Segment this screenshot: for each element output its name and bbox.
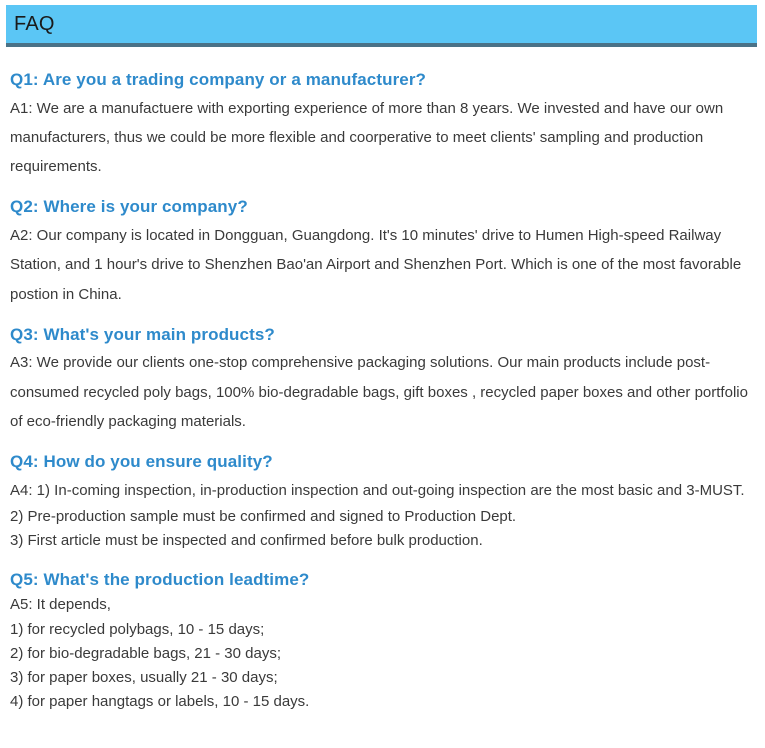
- faq-question-q2: Q2: Where is your company?: [10, 195, 755, 220]
- faq-answer-line: 3) for paper boxes, usually 21 - 30 days…: [10, 666, 755, 690]
- faq-section-q4: Q4: How do you ensure quality? A4: 1) In…: [10, 450, 755, 553]
- faq-answer-line: A4: 1) In-coming inspection, in-producti…: [10, 476, 755, 505]
- faq-question-q1: Q1: Are you a trading company or a manuf…: [10, 68, 755, 93]
- faq-answer-q4: A4: 1) In-coming inspection, in-producti…: [10, 476, 755, 554]
- faq-section-q5: Q5: What's the production leadtime? A5: …: [10, 568, 755, 715]
- faq-section-q2: Q2: Where is your company? A2: Our compa…: [10, 195, 755, 308]
- faq-answer-line: A5: It depends,: [10, 593, 755, 617]
- faq-page: FAQ Q1: Are you a trading company or a m…: [0, 0, 765, 748]
- faq-question-q4: Q4: How do you ensure quality?: [10, 450, 755, 475]
- faq-answer-line: 2) for bio-degradable bags, 21 - 30 days…: [10, 642, 755, 666]
- faq-answer-q3: A3: We provide our clients one-stop comp…: [10, 348, 755, 436]
- faq-answer-line: 3) First article must be inspected and c…: [10, 529, 755, 553]
- faq-banner: FAQ: [6, 5, 757, 47]
- faq-section-q3: Q3: What's your main products? A3: We pr…: [10, 323, 755, 436]
- faq-answer-line: 1) for recycled polybags, 10 - 15 days;: [10, 618, 755, 642]
- faq-answer-q2: A2: Our company is located in Dongguan, …: [10, 221, 755, 309]
- faq-banner-title: FAQ: [6, 14, 55, 34]
- faq-section-q1: Q1: Are you a trading company or a manuf…: [10, 68, 755, 181]
- faq-question-q3: Q3: What's your main products?: [10, 323, 755, 348]
- faq-answer-q5: A5: It depends, 1) for recycled polybags…: [10, 593, 755, 714]
- faq-question-q5: Q5: What's the production leadtime?: [10, 568, 755, 593]
- faq-content: Q1: Are you a trading company or a manuf…: [10, 68, 755, 715]
- faq-answer-q1: A1: We are a manufactuere with exporting…: [10, 94, 755, 182]
- faq-answer-line: 4) for paper hangtags or labels, 10 - 15…: [10, 690, 755, 714]
- faq-answer-line: 2) Pre-production sample must be confirm…: [10, 505, 755, 529]
